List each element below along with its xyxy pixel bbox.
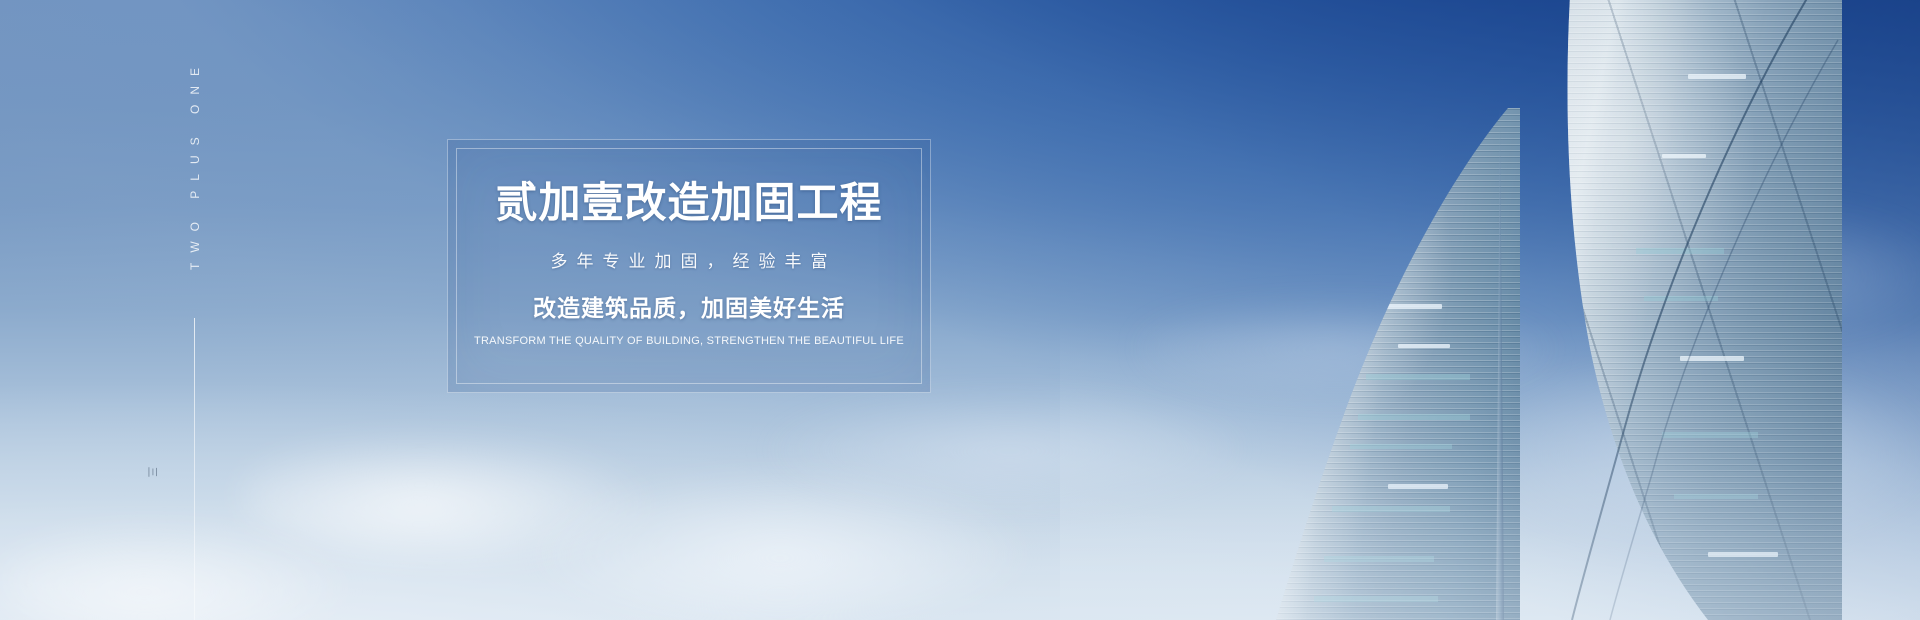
front-tower-teal-window xyxy=(1366,374,1470,380)
rear-tower-teal-window xyxy=(1636,248,1724,254)
rear-tower-lit-window xyxy=(1680,356,1744,361)
front-tower-teal-window xyxy=(1314,596,1438,602)
rear-tower-lit-window xyxy=(1662,154,1706,158)
hero-subtitle: 多年专业加固，经验丰富 xyxy=(542,253,837,270)
vertical-brand-text: TWO PLUS ONE xyxy=(178,58,212,308)
front-tower-teal-window xyxy=(1350,444,1452,449)
front-tower-lit-window xyxy=(1388,484,1448,489)
vertical-divider-line xyxy=(194,318,195,620)
rear-tower-lit-window xyxy=(1708,552,1778,557)
front-tower-glass-sheen xyxy=(1270,108,1520,620)
panel-content: 贰加壹改造加固工程 多年专业加固，经验丰富 改造建筑品质，加固美好生活 TRAN… xyxy=(448,140,930,392)
vertical-brand-label: TWO PLUS ONE xyxy=(189,58,201,270)
rear-tower-glass-sheen xyxy=(1512,0,1842,620)
front-tower-lit-window xyxy=(1380,304,1442,309)
rear-tower-lit-window xyxy=(1688,74,1746,79)
hero-tagline: 改造建筑品质，加固美好生活 xyxy=(533,297,845,320)
rear-tall-tower xyxy=(1512,0,1842,620)
front-tower-teal-window xyxy=(1332,506,1450,512)
rear-tower-teal-window xyxy=(1674,494,1758,499)
skyline-buildings xyxy=(1060,0,1920,620)
hero-text-panel: 贰加壹改造加固工程 多年专业加固，经验丰富 改造建筑品质，加固美好生活 TRAN… xyxy=(447,139,931,393)
front-tower-teal-window xyxy=(1324,556,1434,562)
front-sail-tower xyxy=(1270,108,1520,620)
rear-tower-teal-window xyxy=(1662,432,1758,438)
brand-mark-glyph: 三 xyxy=(146,466,158,478)
front-tower-teal-window xyxy=(1358,414,1470,420)
hero-headline: 贰加壹改造加固工程 xyxy=(495,182,882,224)
front-tower-lit-window xyxy=(1398,344,1450,348)
hero-banner: TWO PLUS ONE 三 贰加壹改造加固工程 多年专业加固，经验丰富 改造建… xyxy=(0,0,1920,620)
hero-caption-en: TRANSFORM THE QUALITY OF BUILDING, STREN… xyxy=(474,336,904,347)
rear-tower-teal-window xyxy=(1644,296,1718,301)
